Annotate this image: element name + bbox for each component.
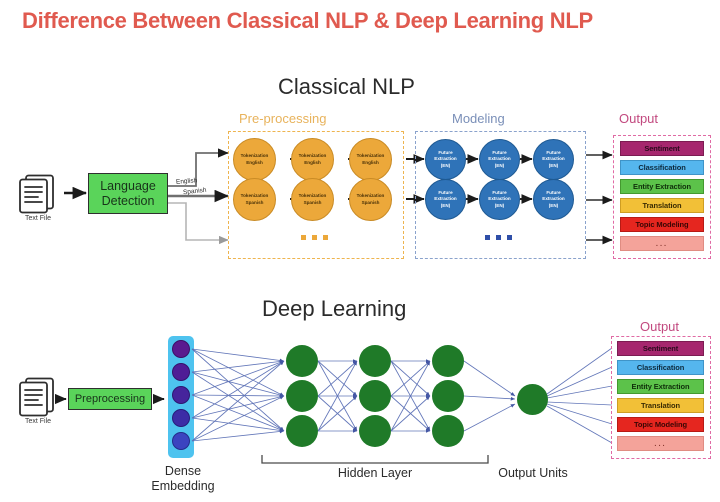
- output-units-label: Output Units: [478, 466, 588, 480]
- deep-output-pill-classification[interactable]: Classification: [617, 360, 704, 375]
- deep-output-pill-translation[interactable]: Translation: [617, 398, 704, 413]
- dense-embedding-line1: Dense: [165, 464, 201, 478]
- dense-embedding-label: Dense Embedding: [146, 464, 220, 494]
- deep-output-pill-topic-modeling[interactable]: Topic Modeling: [617, 417, 704, 432]
- deep-output-pill-sentiment[interactable]: Sentiment: [617, 341, 704, 356]
- deep-output-pill-ellipsis[interactable]: ...: [617, 436, 704, 451]
- hidden-layer-label: Hidden Layer: [320, 466, 430, 480]
- diagram-canvas: Difference Between Classical NLP & Deep …: [0, 0, 720, 502]
- deep-output-pill-entity-extraction[interactable]: Entity Extraction: [617, 379, 704, 394]
- dense-embedding-line2: Embedding: [151, 479, 214, 493]
